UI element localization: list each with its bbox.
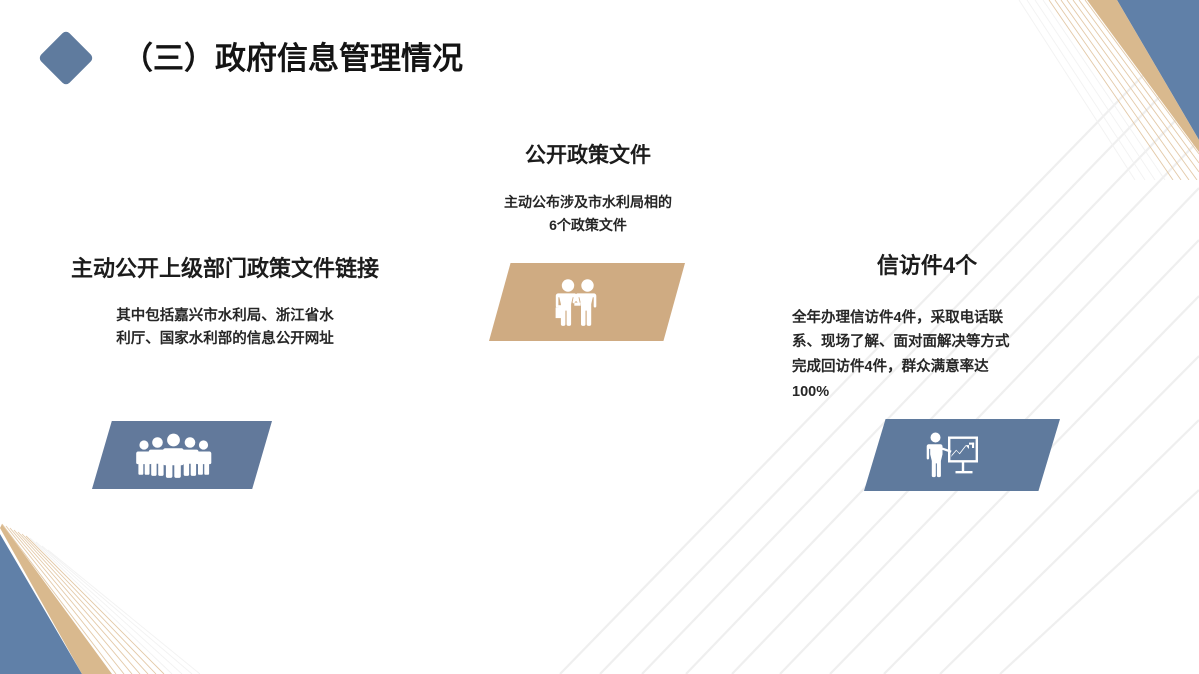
people-group-icon	[136, 432, 212, 478]
top-right-corner-decoration	[999, 0, 1199, 180]
column-left-heading: 主动公开上级部门政策文件链接	[0, 255, 450, 283]
column-left-body-line-1: 其中包括嘉兴市水利局、浙江省水	[0, 305, 450, 328]
column-right-heading: 信访件4个	[792, 252, 1062, 280]
slide-title-row: （三）政府信息管理情况	[46, 38, 463, 78]
presenter-chart-board-icon	[924, 431, 980, 479]
two-people-handshake-icon	[551, 277, 603, 327]
column-left-body: 其中包括嘉兴市水利局、浙江省水 利厅、国家水利部的信息公开网址	[0, 305, 450, 352]
column-right-body-line-2: 系、现场了解、面对面解决等方式	[792, 330, 1082, 355]
column-left-body-line-2: 利厅、国家水利部的信息公开网址	[0, 328, 450, 351]
slide-canvas: （三）政府信息管理情况 主动公开上级部门政策文件链接 其中包括嘉兴市水利局、浙江…	[0, 0, 1199, 674]
column-right-body-line-1: 全年办理信访件4件，采取电话联	[792, 306, 1082, 331]
column-left-icon-plate	[92, 421, 272, 489]
page-title: （三）政府信息管理情况	[122, 43, 463, 74]
column-right-body: 全年办理信访件4件，采取电话联 系、现场了解、面对面解决等方式 完成回访件4件，…	[792, 306, 1082, 406]
column-middle-body: 主动公布涉及市水利局相的 6个政策文件	[438, 191, 738, 236]
column-right-body-line-3: 完成回访件4件，群众满意率达	[792, 355, 1082, 380]
column-right-body-line-4: 100%	[792, 380, 1082, 405]
column-middle-body-line-2: 6个政策文件	[438, 214, 738, 237]
diamond-bullet-icon	[38, 30, 95, 87]
column-middle-icon-plate	[489, 263, 685, 341]
column-middle: 公开政策文件 主动公布涉及市水利局相的 6个政策文件	[438, 143, 738, 237]
column-right: 信访件4个 全年办理信访件4件，采取电话联 系、现场了解、面对面解决等方式 完成…	[792, 252, 1082, 405]
column-middle-heading: 公开政策文件	[438, 143, 738, 169]
column-middle-body-line-1: 主动公布涉及市水利局相的	[438, 191, 738, 214]
column-left: 主动公开上级部门政策文件链接 其中包括嘉兴市水利局、浙江省水 利厅、国家水利部的…	[0, 255, 450, 351]
column-right-icon-plate	[864, 419, 1060, 491]
bottom-left-corner-decoration	[0, 494, 200, 674]
